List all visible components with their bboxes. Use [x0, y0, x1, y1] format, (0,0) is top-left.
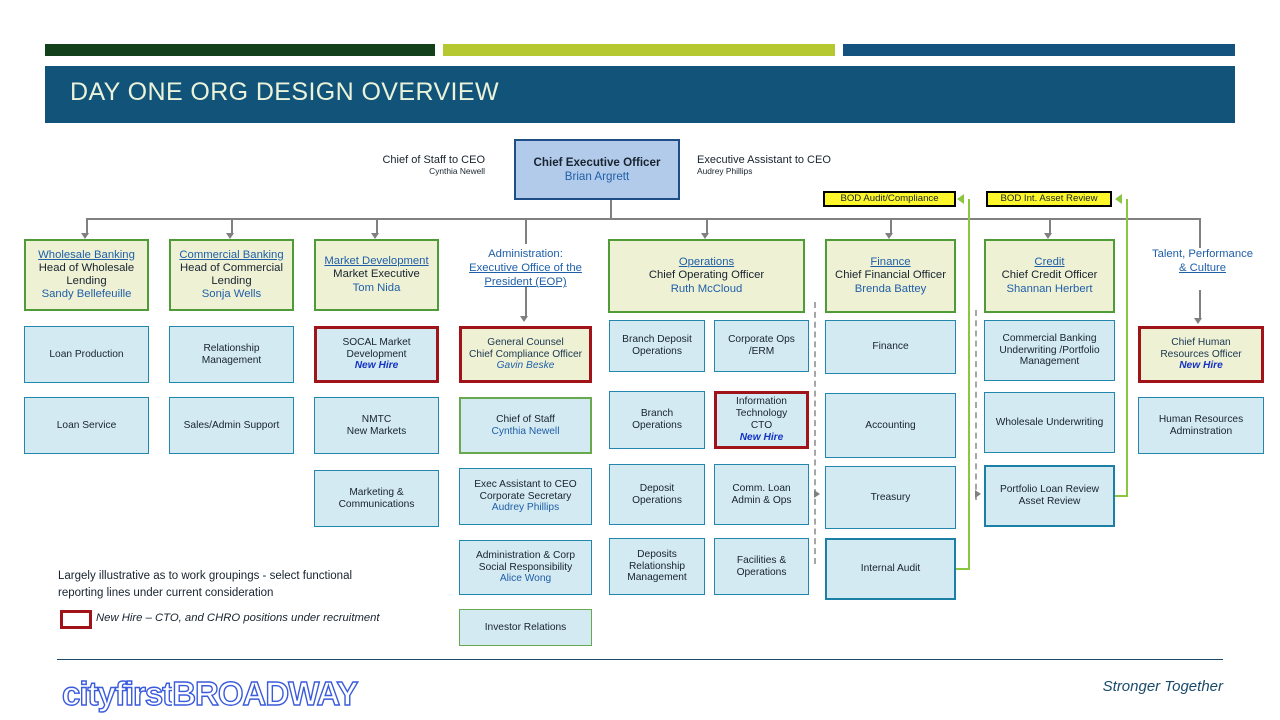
head-culture-label: & Culture: [1179, 262, 1226, 274]
logo-cityfirst: cityfirst: [62, 675, 172, 712]
dashed-divider-finance-credit: [975, 310, 977, 500]
sub-accounting[interactable]: Accounting: [825, 393, 956, 458]
legend-note: Largely illustrative as to work grouping…: [58, 568, 398, 601]
chief-of-staff-name: Cynthia Newell: [370, 166, 485, 176]
sub-chief-human-resources-officer[interactable]: Chief Human Resources Officer New Hire: [1138, 326, 1264, 383]
head-talent-label: Talent, Performance: [1152, 248, 1253, 260]
legend-new-hire-swatch: [60, 610, 92, 629]
ceo-title: Chief Executive Officer: [534, 156, 661, 170]
head-wholesale-banking-role: Head of Wholesale Lending: [26, 262, 147, 288]
head-operations[interactable]: Operations Chief Operating Officer Ruth …: [608, 239, 805, 313]
head-wholesale-banking[interactable]: Wholesale Banking Head of Wholesale Lend…: [24, 239, 149, 311]
head-market-development[interactable]: Market Development Market Executive Tom …: [314, 239, 439, 311]
head-credit[interactable]: Credit Chief Credit Officer Shannan Herb…: [984, 239, 1115, 313]
arrow-eop: [520, 316, 528, 322]
sub-loan-production[interactable]: Loan Production: [24, 326, 149, 383]
sub-loan-service[interactable]: Loan Service: [24, 397, 149, 454]
new-hire-tag: New Hire: [740, 432, 784, 444]
eop-drop-line: [525, 286, 527, 318]
head-administration-eop: Administration: Executive Office of the …: [460, 247, 591, 289]
head-credit-name: Shannan Herbert: [1006, 283, 1092, 296]
sub-general-counsel[interactable]: General Counsel Chief Compliance Officer…: [459, 326, 592, 383]
ceo-drop-line: [610, 200, 612, 219]
sub-commercial-banking-underwriting[interactable]: Commercial Banking Underwriting /Portfol…: [984, 320, 1115, 381]
sub-deposits-relationship-management[interactable]: Deposits Relationship Management: [609, 538, 705, 595]
sub-sales-admin-support[interactable]: Sales/Admin Support: [169, 397, 294, 454]
head-operations-role: Chief Operating Officer: [649, 269, 764, 282]
footer-tagline: Stronger Together: [1103, 678, 1223, 695]
title-band: DAY ONE ORG DESIGN OVERVIEW: [45, 66, 1235, 123]
sub-facilities-operations[interactable]: Facilities & Operations: [714, 538, 809, 595]
sub-corporate-ops-erm[interactable]: Corporate Ops /ERM: [714, 320, 809, 372]
exec-assistant-name: Audrey Phillips: [697, 166, 842, 176]
bod-audit-compliance-box[interactable]: BOD Audit/Compliance: [823, 191, 956, 207]
sub-information-technology-cto[interactable]: Information Technology CTO New Hire: [714, 391, 809, 449]
logo-broadway: BROADWAY: [172, 675, 357, 712]
sub-branch-operations[interactable]: Branch Operations: [609, 391, 705, 449]
head-market-development-title: Market Development: [324, 255, 428, 268]
sub-branch-deposit-operations[interactable]: Branch Deposit Operations: [609, 320, 705, 372]
head-commercial-banking-role: Head of Commercial Lending: [171, 262, 292, 288]
general-counsel-name: Gavin Beske: [497, 360, 555, 372]
head-commercial-banking-title: Commercial Banking: [179, 249, 283, 262]
bod-audit-arrow-head: [957, 194, 964, 204]
accent-bar-lime: [443, 44, 835, 56]
new-hire-tag: New Hire: [355, 360, 399, 372]
sub-administration-corp-social-responsibility[interactable]: Administration & Corp Social Responsibil…: [459, 540, 592, 595]
org-bus-line: [86, 218, 1200, 220]
sub-treasury[interactable]: Treasury: [825, 466, 956, 529]
head-administration-label: Administration:: [488, 248, 563, 260]
sub-nmtc-new-markets[interactable]: NMTC New Markets: [314, 397, 439, 454]
footer-rule: [57, 659, 1223, 660]
legend-new-hire-text: New Hire – CTO, and CHRO positions under…: [96, 612, 380, 624]
dashed-arrow-loanreview: [975, 490, 981, 498]
bod-int-asset-review-box[interactable]: BOD Int. Asset Review: [986, 191, 1112, 207]
drop-col-4: [525, 218, 527, 244]
sub-deposit-operations[interactable]: Deposit Operations: [609, 464, 705, 525]
head-operations-title: Operations: [679, 256, 734, 269]
sub-socal-market-development[interactable]: SOCAL Market Development New Hire: [314, 326, 439, 383]
dashed-arrow-portfolio: [814, 490, 820, 498]
admin-csr-name: Alice Wong: [500, 573, 551, 585]
sub-investor-relations[interactable]: Investor Relations: [459, 609, 592, 646]
chief-of-staff-role: Chief of Staff to CEO: [382, 154, 485, 166]
ceo-name: Brian Argrett: [565, 170, 629, 184]
head-commercial-banking[interactable]: Commercial Banking Head of Commercial Le…: [169, 239, 294, 311]
head-commercial-banking-name: Sonja Wells: [202, 288, 261, 301]
exec-assistant-side-label: Executive Assistant to CEO Audrey Philli…: [697, 154, 842, 176]
new-hire-tag: New Hire: [1179, 360, 1223, 372]
head-finance[interactable]: Finance Chief Financial Officer Brenda B…: [825, 239, 956, 313]
sub-human-resources-administration[interactable]: Human Resources Adminstration: [1138, 397, 1264, 454]
head-market-development-name: Tom Nida: [353, 282, 401, 295]
head-market-development-role: Market Executive: [333, 268, 420, 281]
accent-bar-blue: [843, 44, 1235, 56]
sub-portfolio-loan-review[interactable]: Portfolio Loan Review Asset Review: [984, 465, 1115, 527]
head-credit-title: Credit: [1034, 256, 1064, 269]
drop-col-8: [1199, 218, 1201, 248]
sub-comm-loan-admin-ops[interactable]: Comm. Loan Admin & Ops: [714, 464, 809, 525]
bod-asset-line-vertical: [1126, 199, 1128, 497]
accent-bar-green: [45, 44, 435, 56]
head-wholesale-banking-title: Wholesale Banking: [38, 249, 135, 262]
head-finance-title: Finance: [870, 256, 910, 269]
head-talent-performance-culture: Talent, Performance & Culture: [1140, 247, 1265, 275]
arrow-talent: [1194, 318, 1202, 324]
exec-assistant-role: Executive Assistant to CEO: [697, 154, 831, 166]
dashed-divider-operations-finance: [814, 302, 816, 564]
chief-of-staff-side-label: Chief of Staff to CEO Cynthia Newell: [370, 154, 485, 176]
sub-wholesale-underwriting[interactable]: Wholesale Underwriting: [984, 392, 1115, 453]
head-finance-role: Chief Financial Officer: [835, 269, 946, 282]
sub-relationship-management[interactable]: Relationship Management: [169, 326, 294, 383]
ceo-box[interactable]: Chief Executive Officer Brian Argrett: [514, 139, 680, 200]
head-finance-name: Brenda Battey: [855, 283, 927, 296]
bod-asset-arrow-head: [1115, 194, 1122, 204]
sub-finance[interactable]: Finance: [825, 320, 956, 374]
head-wholesale-banking-name: Sandy Bellefeuille: [42, 288, 132, 301]
head-operations-name: Ruth McCloud: [671, 283, 743, 296]
bod-audit-line-vertical: [968, 199, 970, 570]
sub-internal-audit[interactable]: Internal Audit: [825, 538, 956, 600]
cityfirst-broadway-logo: cityfirstBROADWAY: [62, 675, 357, 713]
page-title: DAY ONE ORG DESIGN OVERVIEW: [70, 78, 499, 107]
sub-chief-of-staff[interactable]: Chief of Staff Cynthia Newell: [459, 397, 592, 454]
exec-assistant-box-name: Audrey Phillips: [492, 502, 559, 514]
sub-exec-assistant-corporate-secretary[interactable]: Exec Assistant to CEO Corporate Secretar…: [459, 468, 592, 525]
head-eop-label: Executive Office of the President (EOP): [469, 262, 582, 288]
chief-of-staff-box-name: Cynthia Newell: [492, 426, 560, 438]
head-credit-role: Chief Credit Officer: [1002, 269, 1098, 282]
sub-marketing-communications[interactable]: Marketing & Communications: [314, 470, 439, 527]
talent-drop-line: [1199, 290, 1201, 320]
